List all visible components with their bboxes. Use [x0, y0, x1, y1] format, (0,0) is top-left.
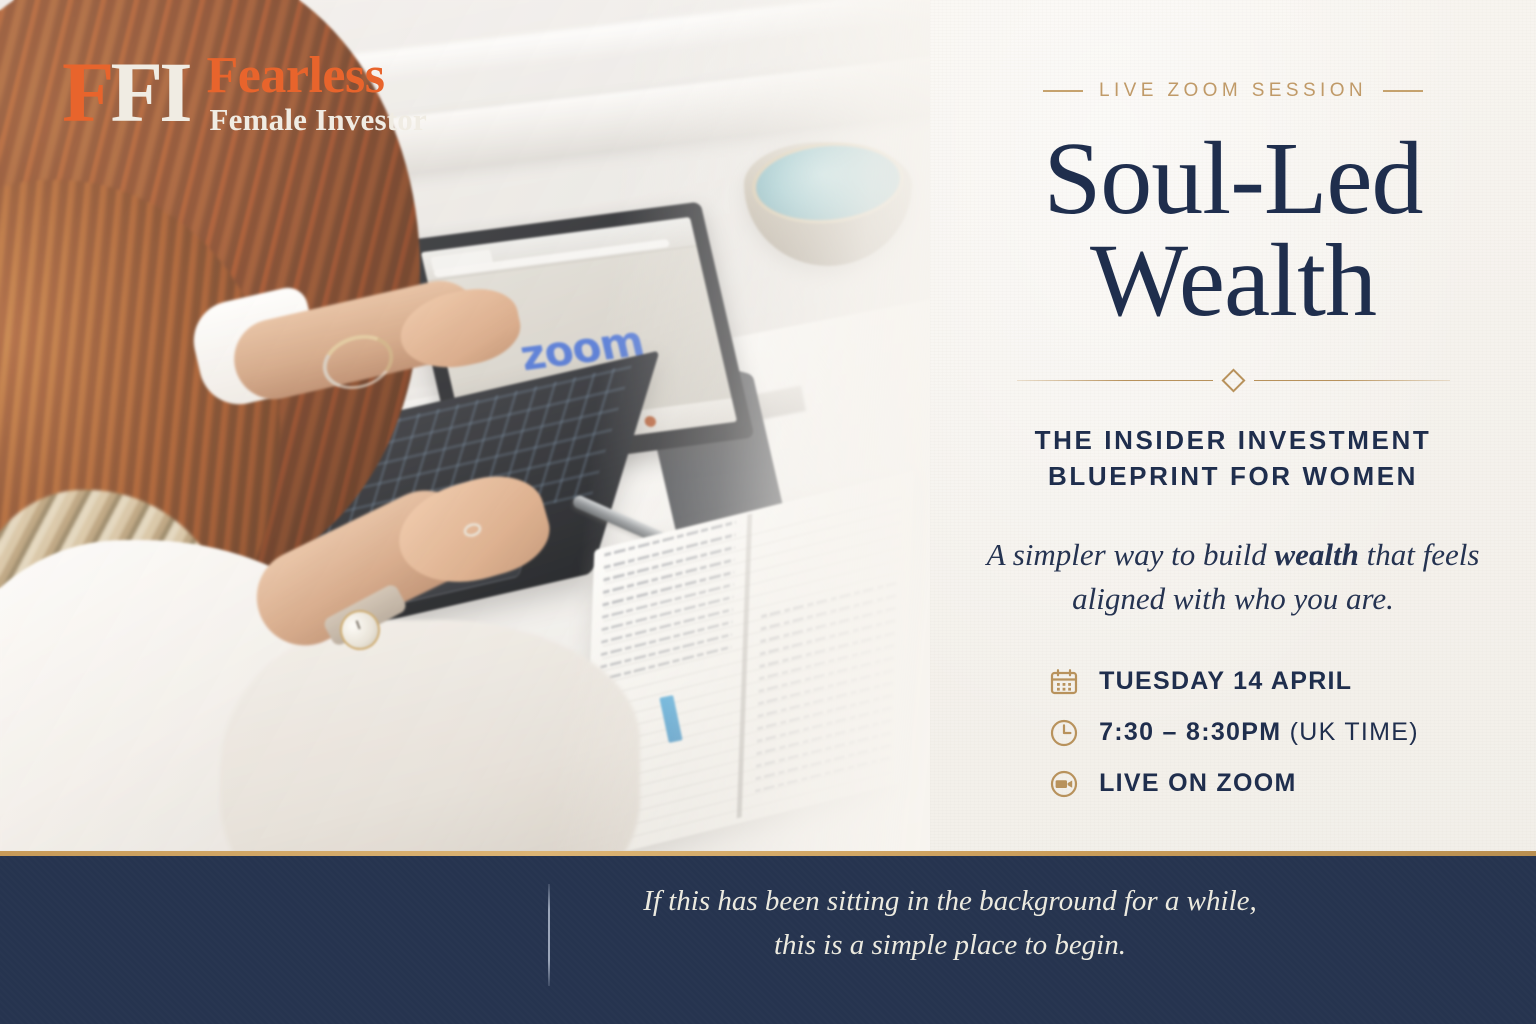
hero-content: LIVE ZOOM SESSION Soul-Led Wealth THE IN…: [930, 0, 1536, 856]
divider-rule-right: [1254, 380, 1450, 382]
page-title: Soul-Led Wealth: [966, 128, 1500, 332]
logo-monogram: FFI: [62, 54, 189, 131]
subtitle-line-2: BLUEPRINT FOR WOMEN: [966, 459, 1500, 495]
taskbar-icon: [643, 415, 656, 427]
woman-lap: [220, 620, 640, 856]
calendar-icon: [1047, 665, 1081, 699]
tagline-emphasis: wealth: [1274, 537, 1358, 572]
detail-text-date: TUESDAY 14 APRIL: [1099, 667, 1352, 696]
eyebrow-rule-left: [1043, 90, 1083, 92]
divider-rule-left: [1017, 380, 1213, 382]
time-value: 7:30 – 8:30PM: [1099, 718, 1281, 746]
event-details-list: TUESDAY 14 APRIL 7:30 – 8:30PM (UK TIME): [1047, 665, 1419, 818]
title-line-2: Wealth: [966, 230, 1500, 332]
detail-text-platform: LIVE ON ZOOM: [1099, 769, 1297, 798]
ornamental-divider: [966, 372, 1500, 389]
date-value: TUESDAY 14 APRIL: [1099, 667, 1352, 695]
tagline: A simpler way to build wealth that feels…: [966, 533, 1500, 621]
platform-value: LIVE ON ZOOM: [1099, 769, 1297, 797]
logo-monogram-f: F: [62, 44, 111, 140]
diamond-outline-icon: [1221, 368, 1245, 392]
title-line-1: Soul-Led: [966, 128, 1500, 230]
detail-row-time: 7:30 – 8:30PM (UK TIME): [1047, 716, 1419, 750]
logo-name-top: Fearless: [207, 50, 427, 102]
logo-name-bottom: Female Investor: [207, 104, 427, 135]
clock-icon: [1047, 716, 1081, 750]
subtitle-line-1: THE INSIDER INVESTMENT: [966, 423, 1500, 459]
subtitle: THE INSIDER INVESTMENT BLUEPRINT FOR WOM…: [966, 423, 1500, 495]
footer-note-line-2: this is a simple place to begin.: [600, 924, 1300, 968]
brand-logo: FFI Fearless Female Investor: [62, 50, 427, 135]
eyebrow: LIVE ZOOM SESSION: [966, 80, 1500, 102]
detail-row-date: TUESDAY 14 APRIL: [1047, 665, 1419, 699]
eyebrow-label: LIVE ZOOM SESSION: [1099, 80, 1367, 102]
footer-note-line-1: If this has been sitting in the backgrou…: [600, 880, 1300, 924]
detail-text-time: 7:30 – 8:30PM (UK TIME): [1099, 718, 1419, 747]
logo-wordmark: Fearless Female Investor: [207, 50, 427, 135]
logo-monogram-fi: FI: [111, 44, 189, 140]
footer-vertical-divider: [548, 884, 550, 986]
detail-row-platform: LIVE ON ZOOM: [1047, 767, 1419, 801]
notebook-handwriting-right: [755, 576, 897, 793]
video-camera-icon: [1047, 767, 1081, 801]
tagline-part-1: A simpler way to build: [987, 537, 1275, 572]
eyebrow-rule-right: [1383, 90, 1423, 92]
time-zone: (UK TIME): [1281, 718, 1419, 746]
footer-note: If this has been sitting in the backgrou…: [600, 880, 1300, 967]
event-promo-poster: zoom: [0, 0, 1536, 1024]
